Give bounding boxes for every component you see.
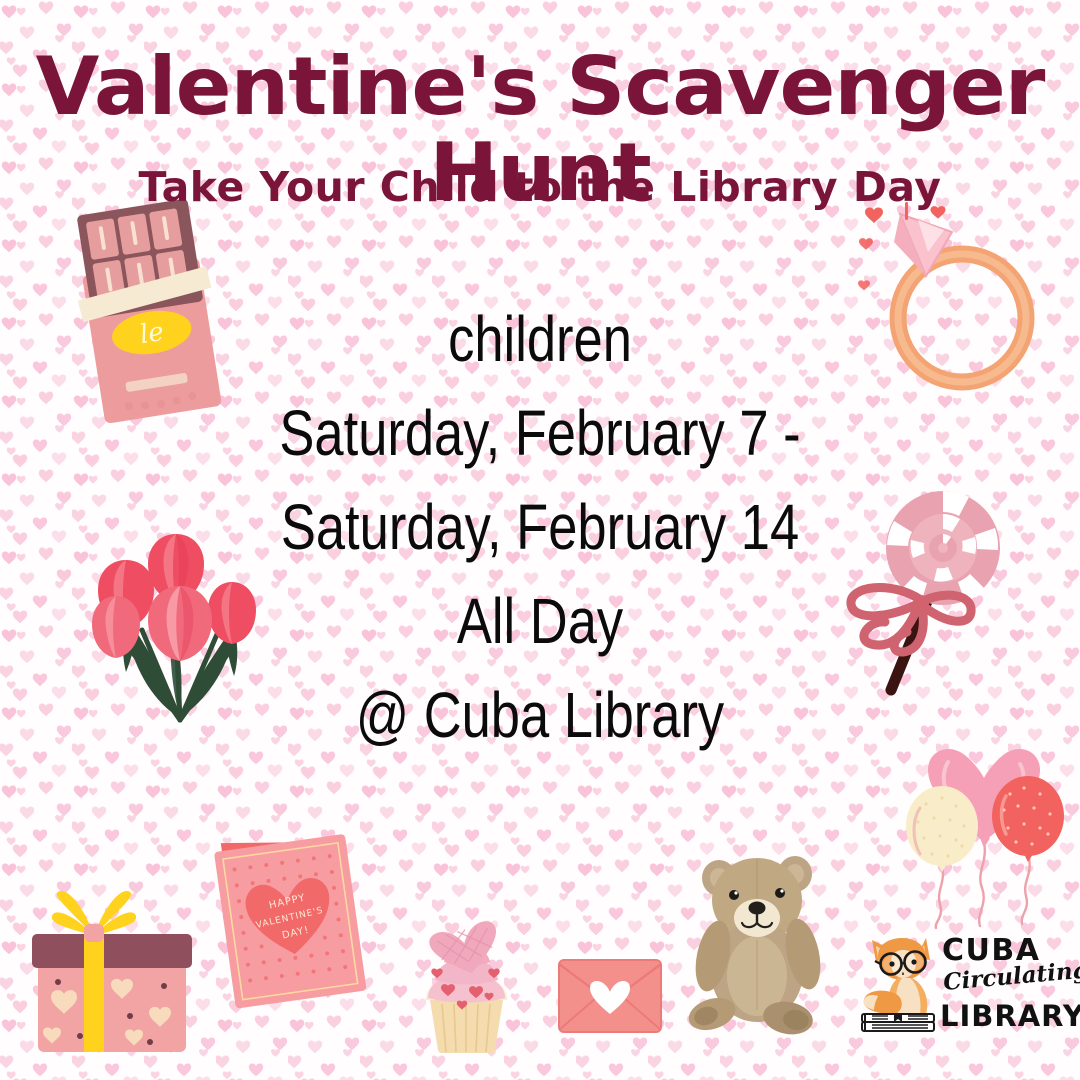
cuba-circulating-library-logo: CUBA Circulating LIBRARY	[858, 928, 1068, 1036]
detail-date-start: Saturday, February 7 -	[97, 386, 983, 480]
detail-audience: children	[97, 292, 983, 386]
event-details: children Saturday, February 7 - Saturday…	[97, 292, 983, 762]
detail-date-end: Saturday, February 14	[97, 480, 983, 574]
subtitle-line-1: Take Your Child to the	[138, 163, 655, 211]
teddy-bear-illustration	[684, 844, 832, 1036]
balloons-illustration	[898, 738, 1073, 928]
valentine-card-illustration: HAPPY VALENTINE'S DAY!	[206, 828, 378, 1010]
poster-canvas: le	[0, 0, 1080, 1080]
love-envelope-illustration	[556, 956, 664, 1036]
cupcake-illustration	[404, 928, 529, 1056]
detail-location: @ Cuba Library	[97, 668, 983, 762]
gift-box-illustration	[22, 884, 207, 1056]
logo-line-library: LIBRARY	[940, 999, 1080, 1033]
subtitle: Take Your Child to the Library Day	[0, 163, 1080, 211]
detail-time: All Day	[97, 574, 983, 668]
subtitle-line-2: Library Day	[670, 163, 941, 211]
